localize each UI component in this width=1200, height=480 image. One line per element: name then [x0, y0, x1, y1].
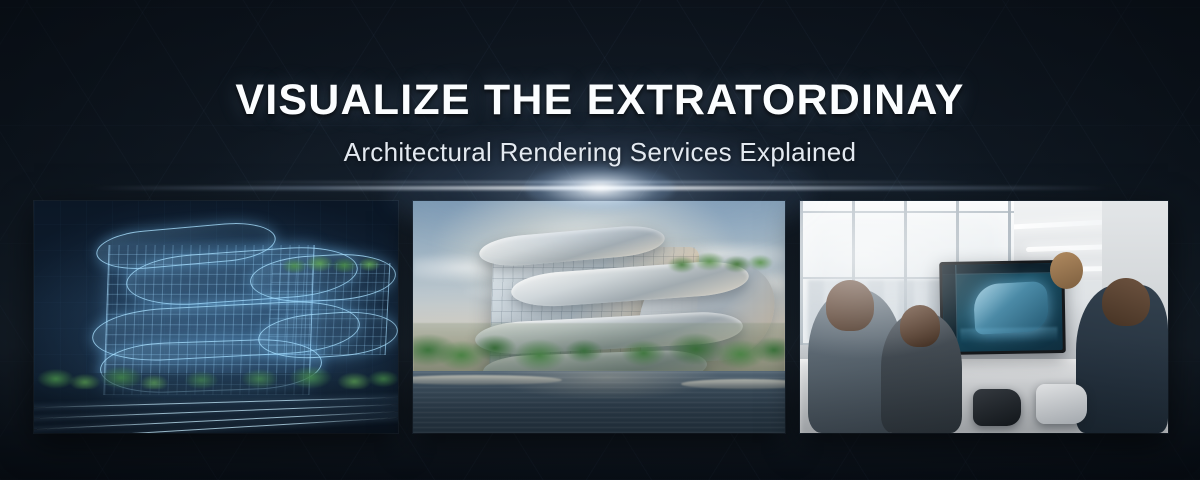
cad-toolbar [942, 263, 1061, 275]
flare-streak-thin [220, 181, 980, 183]
ceiling-light-strip-1 [1009, 219, 1111, 229]
heading-block: VISUALIZE THE EXTRATORDINAY Architectura… [0, 78, 1200, 168]
wireframe-glow [34, 201, 398, 433]
cad-building-model [973, 281, 1049, 335]
gallery-panel-wireframe[interactable] [34, 201, 398, 433]
flare-streak-main [90, 186, 1110, 190]
office-person-4-head [1102, 278, 1150, 327]
image-gallery-strip [34, 201, 1168, 433]
photoreal-tone [413, 201, 786, 433]
hero-banner: VISUALIZE THE EXTRATORDINAY Architectura… [0, 0, 1200, 480]
page-subtitle: Architectural Rendering Services Explain… [0, 137, 1200, 168]
gallery-panel-photoreal[interactable] [413, 201, 786, 433]
vr-headset-white [1036, 384, 1087, 423]
office-person-2-head [900, 305, 940, 347]
office-monitor[interactable] [939, 260, 1066, 355]
gallery-panel-collaboration[interactable] [800, 201, 1168, 433]
vr-headset-dark [973, 389, 1021, 426]
page-title: VISUALIZE THE EXTRATORDINAY [0, 78, 1200, 123]
office-person-1-head [826, 280, 874, 331]
monitor-screen [942, 263, 1062, 352]
